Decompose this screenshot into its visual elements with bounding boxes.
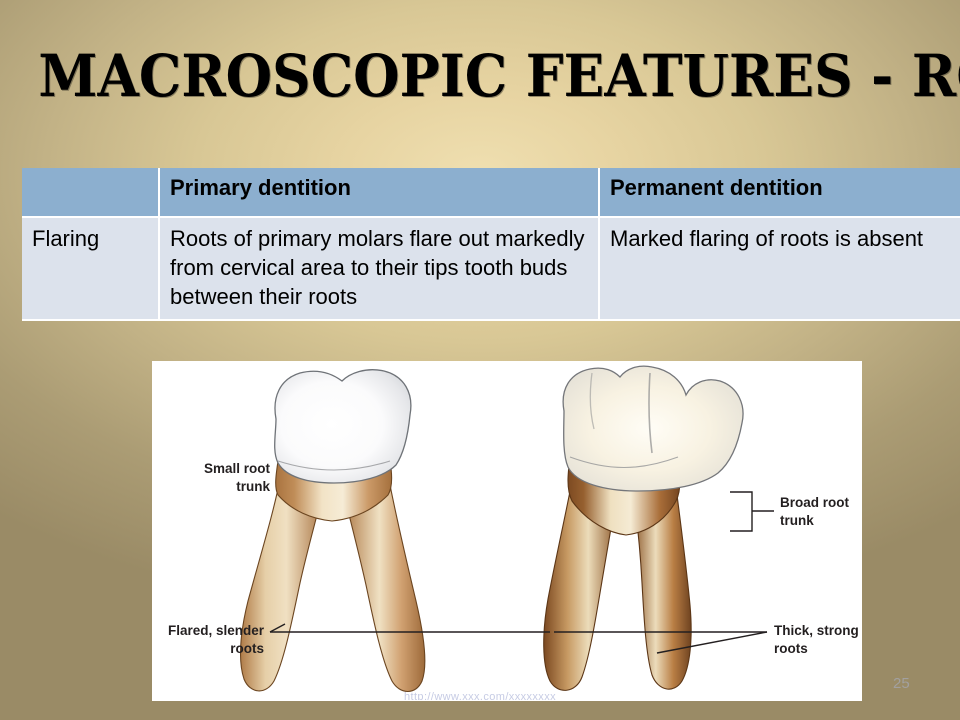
row-label-flaring: Flaring — [22, 218, 160, 321]
watermark-text: http://www.xxx.com/xxxxxxxx — [0, 691, 960, 700]
table-header-primary-dentition: Primary dentition — [160, 168, 600, 218]
label-broad-root-trunk-line1: Broad root — [780, 495, 850, 510]
page-number: 25 — [893, 675, 933, 692]
label-thick-roots-line1: Thick, strong — [774, 623, 859, 638]
label-flared-roots-line2: roots — [230, 641, 264, 656]
label-small-root-trunk-line2: trunk — [236, 479, 270, 494]
label-broad-root-trunk: Broad root trunk — [780, 495, 850, 528]
cell-permanent-flaring: Marked flaring of roots is absent — [600, 218, 960, 321]
tooth-comparison-figure: Small root trunk Broad root trunk Flared… — [152, 361, 862, 701]
label-small-root-trunk-line1: Small root — [204, 461, 271, 476]
label-thick-roots-line2: roots — [774, 641, 808, 656]
table-body: Flaring Roots of primary molars flare ou… — [22, 218, 960, 321]
comparison-table-container: Primary dentition Permanent dentition Fl… — [22, 168, 938, 321]
table-header-permanent-dentition: Permanent dentition — [600, 168, 960, 218]
broad-trunk-bracket — [730, 492, 774, 531]
page-title: MACROSCOPIC FEATURES - ROOT — [38, 44, 921, 108]
label-flared-roots-line1: Flared, slender — [168, 623, 265, 638]
label-thick-strong-roots: Thick, strong roots — [774, 623, 859, 656]
table-row: Flaring Roots of primary molars flare ou… — [22, 218, 960, 321]
cell-primary-flaring: Roots of primary molars flare out marked… — [160, 218, 600, 321]
slide-canvas: MACROSCOPIC FEATURES - ROOT Primary dent… — [0, 0, 960, 720]
table-header-row: Primary dentition Permanent dentition — [22, 168, 960, 218]
primary-molar-illustration — [241, 370, 425, 692]
label-broad-root-trunk-line2: trunk — [780, 513, 814, 528]
label-small-root-trunk: Small root trunk — [204, 461, 271, 494]
table-header-blank — [22, 168, 160, 218]
comparison-table: Primary dentition Permanent dentition Fl… — [22, 168, 960, 321]
table-header: Primary dentition Permanent dentition — [22, 168, 960, 218]
